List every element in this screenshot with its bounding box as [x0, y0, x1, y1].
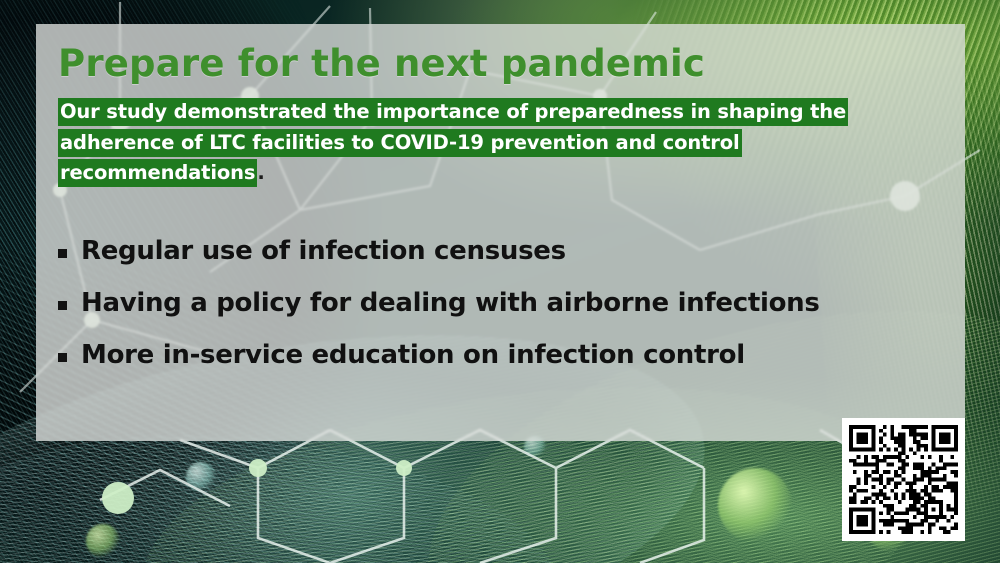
content-panel: Prepare for the next pandemic Our study … — [36, 24, 965, 441]
paragraph-line: Our study demonstrated the importance of… — [58, 102, 948, 122]
square-bullet-icon — [58, 249, 67, 258]
summary-paragraph: Our study demonstrated the importance of… — [58, 102, 948, 194]
list-item-label: Having a policy for dealing with airborn… — [81, 288, 820, 318]
list-item: More in-service education on infection c… — [58, 340, 948, 370]
qr-code-container[interactable] — [842, 418, 965, 541]
paragraph-line: recommendations. — [58, 163, 948, 183]
paragraph-period: . — [257, 161, 264, 184]
bullet-list: Regular use of infection censuses Having… — [58, 236, 948, 392]
list-item-label: More in-service education on infection c… — [81, 340, 745, 370]
highlighted-text: recommendations — [58, 159, 257, 187]
square-bullet-icon — [58, 301, 67, 310]
list-item: Regular use of infection censuses — [58, 236, 948, 266]
square-bullet-icon — [58, 353, 67, 362]
list-item-label: Regular use of infection censuses — [81, 236, 566, 266]
list-item: Having a policy for dealing with airborn… — [58, 288, 948, 318]
highlighted-text: Our study demonstrated the importance of… — [58, 98, 848, 126]
qr-code-icon[interactable] — [849, 425, 958, 534]
paragraph-line: adherence of LTC facilities to COVID-19 … — [58, 133, 948, 153]
highlighted-text: adherence of LTC facilities to COVID-19 … — [58, 129, 742, 157]
page-title: Prepare for the next pandemic — [58, 42, 705, 85]
presentation-slide: Prepare for the next pandemic Our study … — [0, 0, 1000, 563]
